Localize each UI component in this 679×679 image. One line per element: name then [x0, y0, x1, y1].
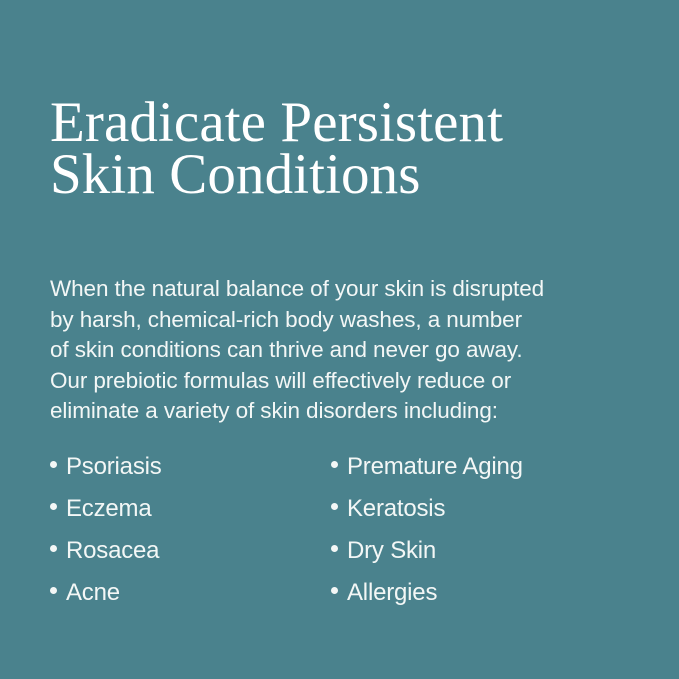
page-title: Eradicate Persistent Skin Conditions [50, 97, 640, 201]
promo-poster: Eradicate Persistent Skin Conditions Whe… [0, 0, 679, 679]
list-item-label: Rosacea [66, 530, 159, 572]
list-item: Rosacea [50, 530, 331, 572]
list-item-label: Premature Aging [347, 446, 523, 488]
list-item: Premature Aging [331, 446, 630, 488]
list-item-label: Keratosis [347, 488, 445, 530]
bullet-dot-icon [331, 503, 338, 510]
conditions-column-right: Premature Aging Keratosis Dry Skin Aller… [331, 446, 630, 614]
list-item-label: Dry Skin [347, 530, 436, 572]
bullet-dot-icon [50, 461, 57, 468]
list-item: Allergies [331, 572, 630, 614]
bullet-dot-icon [50, 545, 57, 552]
list-item-label: Allergies [347, 572, 437, 614]
bullet-dot-icon [331, 587, 338, 594]
conditions-list: Psoriasis Eczema Rosacea Acne Premature … [50, 446, 630, 614]
bullet-dot-icon [331, 461, 338, 468]
body-paragraph: When the natural balance of your skin is… [50, 274, 630, 427]
conditions-column-left: Psoriasis Eczema Rosacea Acne [50, 446, 331, 614]
list-item-label: Psoriasis [66, 446, 162, 488]
bullet-dot-icon [50, 503, 57, 510]
list-item-label: Eczema [66, 488, 152, 530]
bullet-dot-icon [331, 545, 338, 552]
list-item: Dry Skin [331, 530, 630, 572]
list-item: Eczema [50, 488, 331, 530]
list-item-label: Acne [66, 572, 120, 614]
list-item: Psoriasis [50, 446, 331, 488]
list-item: Keratosis [331, 488, 630, 530]
list-item: Acne [50, 572, 331, 614]
bullet-dot-icon [50, 587, 57, 594]
